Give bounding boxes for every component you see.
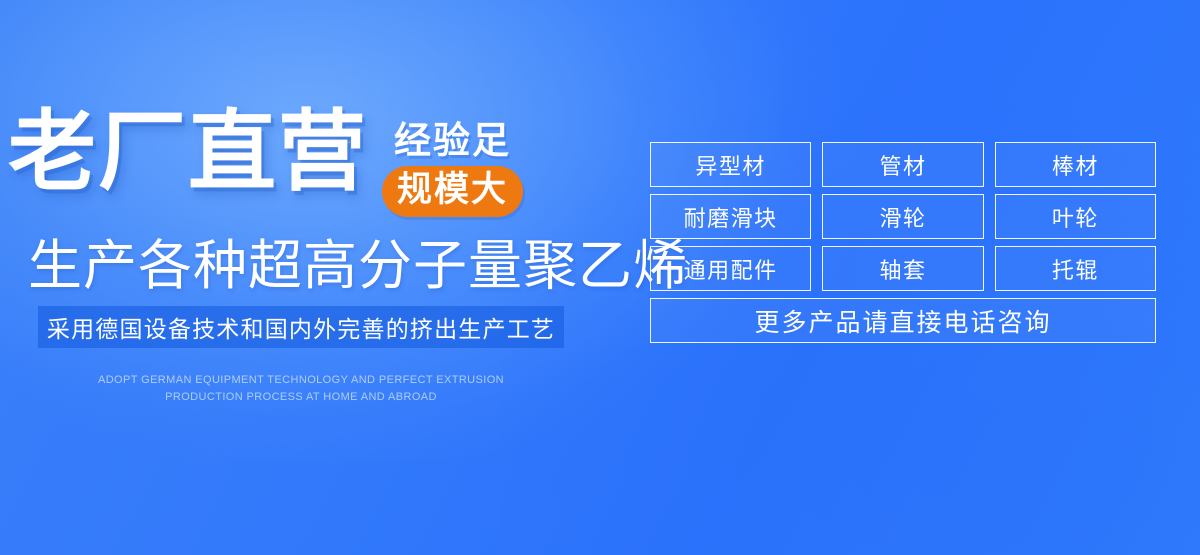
headline-row: 老厂直营 经验足 规模大 xyxy=(8,108,523,217)
product-row-2: 耐磨滑块 滑轮 叶轮 xyxy=(650,194,1156,239)
product-button-bangcai[interactable]: 棒材 xyxy=(995,142,1156,187)
product-label: 管材 xyxy=(879,149,926,181)
product-button-hualun[interactable]: 滑轮 xyxy=(822,194,983,239)
product-label: 通用配件 xyxy=(684,253,778,285)
tagline-text: 采用德国设备技术和国内外完善的挤出生产工艺 xyxy=(47,310,555,344)
product-label: 叶轮 xyxy=(1052,201,1099,233)
badge-experience: 经验足 xyxy=(394,120,511,161)
product-button-tuogun[interactable]: 托辊 xyxy=(995,246,1156,291)
product-button-guancai[interactable]: 管材 xyxy=(822,142,983,187)
english-tagline: ADOPT GERMAN EQUIPMENT TECHNOLOGY AND PE… xyxy=(38,372,564,406)
headline-main-title: 老厂直营 xyxy=(8,108,368,196)
product-row-1: 异型材 管材 棒材 xyxy=(650,142,1156,187)
product-label: 异型材 xyxy=(695,149,766,181)
product-label: 耐磨滑块 xyxy=(684,201,778,233)
headline-badges: 经验足 规模大 xyxy=(382,120,523,217)
english-tagline-line1: ADOPT GERMAN EQUIPMENT TECHNOLOGY AND PE… xyxy=(38,372,564,389)
product-button-yelun[interactable]: 叶轮 xyxy=(995,194,1156,239)
english-tagline-line2: PRODUCTION PROCESS AT HOME AND ABROAD xyxy=(38,389,564,406)
product-row-3: 通用配件 轴套 托辊 xyxy=(650,246,1156,291)
product-button-naimohuakuai[interactable]: 耐磨滑块 xyxy=(650,194,811,239)
promo-banner: 老厂直营 经验足 规模大 生产各种超高分子量聚乙烯 采用德国设备技术和国内外完善… xyxy=(0,0,1200,555)
product-button-yixingcai[interactable]: 异型材 xyxy=(650,142,811,187)
product-label: 滑轮 xyxy=(879,201,926,233)
more-products-contact-button[interactable]: 更多产品请直接电话咨询 xyxy=(650,298,1156,343)
product-label: 棒材 xyxy=(1052,149,1099,181)
tagline-band: 采用德国设备技术和国内外完善的挤出生产工艺 xyxy=(38,306,564,348)
headline-subtitle: 生产各种超高分子量聚乙烯 xyxy=(28,238,688,295)
product-label: 托辊 xyxy=(1052,253,1099,285)
banner-left-content: 老厂直营 经验足 规模大 生产各种超高分子量聚乙烯 采用德国设备技术和国内外完善… xyxy=(0,0,620,555)
product-button-tongyongpeijian[interactable]: 通用配件 xyxy=(650,246,811,291)
product-category-grid: 异型材 管材 棒材 耐磨滑块 滑轮 叶轮 通用配件 xyxy=(650,142,1156,343)
badge-scale-pill: 规模大 xyxy=(382,166,523,216)
product-label: 轴套 xyxy=(879,253,926,285)
more-products-label: 更多产品请直接电话咨询 xyxy=(754,303,1051,339)
product-button-zhoutao[interactable]: 轴套 xyxy=(822,246,983,291)
